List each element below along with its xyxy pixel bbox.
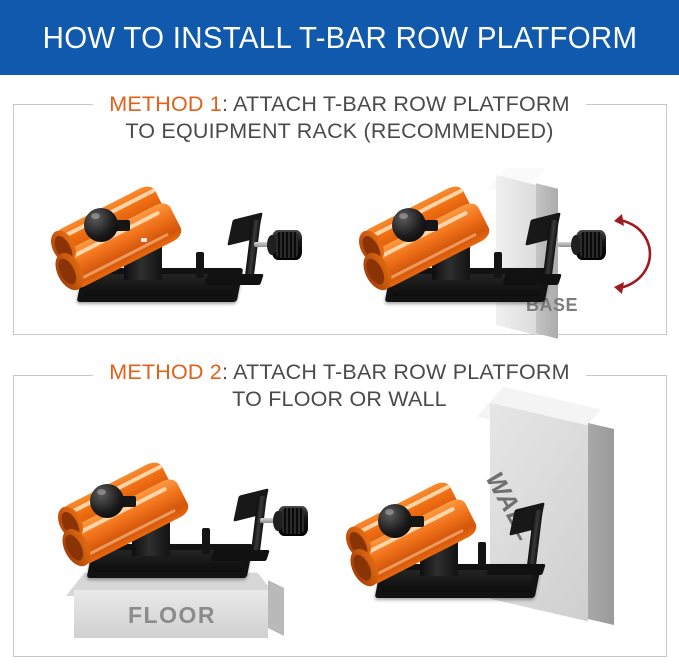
clamp-knob bbox=[576, 230, 606, 260]
header-banner: HOW TO INSTALL T-BAR ROW PLATFORM bbox=[0, 0, 679, 75]
c-clamp bbox=[510, 220, 602, 306]
method-1-title: METHOD 1: ATTACH T-BAR ROW PLATFORM TO E… bbox=[0, 92, 679, 144]
ball-knob bbox=[392, 208, 426, 242]
method-1-title-line1: METHOD 1: ATTACH T-BAR ROW PLATFORM bbox=[93, 92, 586, 117]
clamp-knob bbox=[278, 506, 308, 536]
figure-2b: WALL bbox=[372, 452, 622, 612]
rotation-arrow-icon bbox=[606, 212, 658, 296]
method-2-title-line2: TO FLOOR OR WALL bbox=[0, 387, 679, 412]
figure-1b: BASE bbox=[370, 160, 620, 320]
method-2-title: METHOD 2: ATTACH T-BAR ROW PLATFORM TO F… bbox=[0, 360, 679, 412]
clamp-bottom-arm bbox=[210, 550, 270, 561]
knob-cap bbox=[273, 511, 283, 531]
ball-knob bbox=[378, 504, 412, 538]
clamp-hook bbox=[202, 528, 210, 554]
clamp-hook bbox=[196, 252, 204, 278]
clamp-hook bbox=[494, 252, 502, 278]
figure-1a bbox=[62, 160, 312, 320]
method-2-title-text: : ATTACH T-BAR ROW PLATFORM bbox=[222, 360, 570, 384]
instruction-sheet: HOW TO INSTALL T-BAR ROW PLATFORM METHOD… bbox=[0, 0, 679, 666]
wall-mount-bracket bbox=[494, 510, 586, 596]
clamp-knob bbox=[272, 230, 302, 260]
figure-2a: FLOOR bbox=[60, 440, 310, 600]
knob-cap bbox=[267, 235, 277, 255]
ball-knob bbox=[90, 484, 124, 518]
clamp-bottom-arm bbox=[204, 274, 264, 285]
method-1-title-line2: TO EQUIPMENT RACK (RECOMMENDED) bbox=[0, 119, 679, 144]
tube-bore bbox=[62, 532, 87, 563]
knob-cap bbox=[571, 235, 581, 255]
clamp-bottom-arm bbox=[502, 274, 562, 285]
floor-label: FLOOR bbox=[128, 602, 216, 629]
ball-knob bbox=[84, 208, 118, 242]
c-clamp bbox=[212, 220, 304, 306]
clamp-bottom-arm bbox=[486, 564, 546, 575]
page-title: HOW TO INSTALL T-BAR ROW PLATFORM bbox=[42, 20, 637, 56]
method-2-title-line1: METHOD 2: ATTACH T-BAR ROW PLATFORM bbox=[93, 360, 586, 385]
c-clamp bbox=[218, 496, 310, 582]
method-1-eyebrow: METHOD 1 bbox=[109, 92, 222, 116]
clamp-hook bbox=[478, 542, 486, 568]
wall-side-face bbox=[588, 423, 614, 625]
method-2-eyebrow: METHOD 2 bbox=[109, 360, 222, 384]
method-1-title-text: : ATTACH T-BAR ROW PLATFORM bbox=[222, 92, 570, 116]
floor-side-face bbox=[268, 580, 284, 636]
